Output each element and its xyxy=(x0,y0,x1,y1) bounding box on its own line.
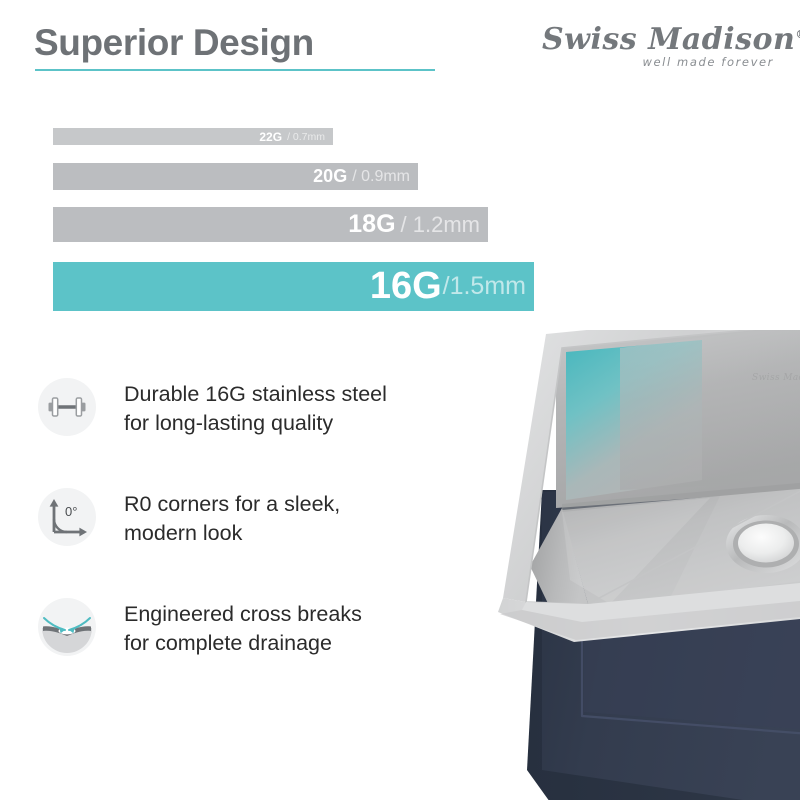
feature-text-line1: Engineered cross breaks xyxy=(124,600,362,629)
feature-text-line2: for complete drainage xyxy=(124,629,362,658)
gauge-comparison-chart: 22G/ 0.7mm20G/ 0.9mm18G/ 1.2mm16G/1.5mm xyxy=(0,110,800,320)
dumbbell-icon xyxy=(38,378,96,436)
svg-text:Swiss Madison: Swiss Madison xyxy=(752,373,800,383)
feature-text-line2: for long-lasting quality xyxy=(124,409,387,438)
feature-text: Engineered cross breaksfor complete drai… xyxy=(124,598,362,658)
cross-break-drainage-icon xyxy=(38,598,96,656)
gauge-value-label: 18G xyxy=(348,210,395,239)
feature-text-line1: R0 corners for a sleek, xyxy=(124,490,340,519)
gauge-bar-20g: 20G/ 0.9mm xyxy=(53,163,418,190)
gauge-value-label: 22G xyxy=(259,130,282,144)
page-title: Superior Design xyxy=(34,22,314,64)
gauge-thickness-label: / 0.7mm xyxy=(287,131,325,143)
zero-degree-angle-icon: 0° xyxy=(38,488,96,546)
gauge-thickness-label: / 1.2mm xyxy=(401,212,480,238)
feature-item: Engineered cross breaksfor complete drai… xyxy=(38,598,362,658)
feature-text-line2: modern look xyxy=(124,519,340,548)
brand-tagline: well made forever xyxy=(542,55,774,69)
sink-product-photo: Swiss Madison xyxy=(470,330,800,800)
brand-name-text: Swiss Madison xyxy=(542,22,795,57)
header: Superior Design Swiss Madison® well made… xyxy=(0,0,800,100)
registered-trademark-icon: ® xyxy=(795,28,800,41)
gauge-thickness-label: /1.5mm xyxy=(443,272,526,301)
feature-item: Durable 16G stainless steelfor long-last… xyxy=(38,378,387,438)
feature-icon-badge xyxy=(38,378,96,436)
gauge-bar-22g: 22G/ 0.7mm xyxy=(53,128,333,145)
gauge-value-label: 16G xyxy=(370,265,442,308)
feature-text: Durable 16G stainless steelfor long-last… xyxy=(124,378,387,438)
brand-name: Swiss Madison® xyxy=(542,22,782,57)
gauge-value-label: 20G xyxy=(313,166,347,187)
feature-list: Durable 16G stainless steelfor long-last… xyxy=(0,370,480,700)
svg-text:0°: 0° xyxy=(65,504,77,519)
feature-icon-badge: 0° xyxy=(38,488,96,546)
gauge-bar-18g: 18G/ 1.2mm xyxy=(53,207,488,242)
feature-text: R0 corners for a sleek,modern look xyxy=(124,488,340,548)
sink-illustration: Swiss Madison xyxy=(470,330,800,800)
feature-text-line1: Durable 16G stainless steel xyxy=(124,380,387,409)
feature-item: 0°R0 corners for a sleek,modern look xyxy=(38,488,340,548)
gauge-bar-16g: 16G/1.5mm xyxy=(53,262,534,311)
brand-logo: Swiss Madison® well made forever xyxy=(542,22,782,80)
gauge-thickness-label: / 0.9mm xyxy=(352,168,410,186)
feature-icon-badge xyxy=(38,598,96,656)
title-underline xyxy=(35,69,435,71)
